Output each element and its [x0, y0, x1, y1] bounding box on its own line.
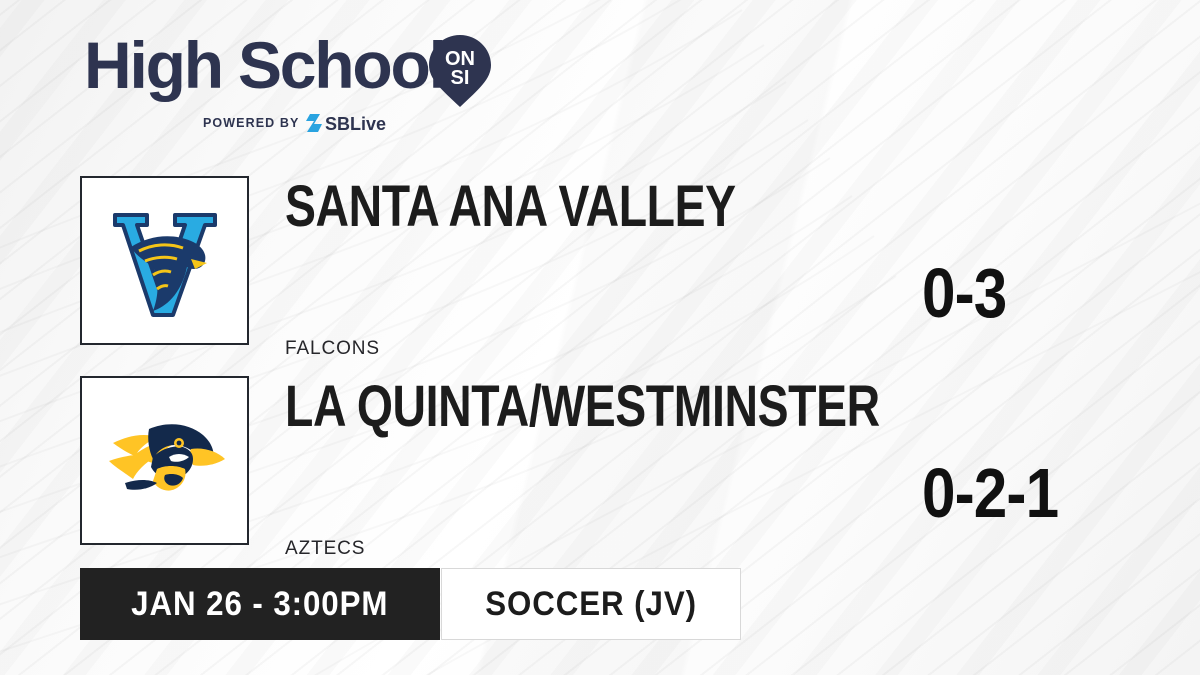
game-sport-label: SOCCER (JV): [485, 585, 697, 624]
aztec-eagle-logo-icon: [95, 391, 235, 531]
onsi-pin-icon: ON SI: [427, 34, 493, 108]
away-team-record: 0-2-1: [922, 458, 1058, 528]
falcon-v-logo-icon: [95, 191, 235, 331]
home-team-name: SANTA ANA VALLEY: [285, 178, 736, 236]
sblive-wordmark: SBLive: [325, 114, 386, 134]
home-team-record: 0-3: [922, 258, 1006, 328]
home-team-logo-box[interactable]: [80, 176, 249, 345]
game-datetime-banner: JAN 26 - 3:00PM: [80, 568, 440, 640]
brand-wordmark: High School: [84, 32, 445, 98]
away-team-logo-box[interactable]: [80, 376, 249, 545]
matchup-graphic: High School ON SI POWERED BY SBLive: [0, 0, 1200, 675]
pin-label-bottom: SI: [451, 67, 470, 89]
home-team-mascot: FALCONS: [285, 338, 380, 360]
sblive-bolt-icon: [306, 114, 322, 132]
powered-by-row: POWERED BY SBLive: [203, 112, 414, 134]
brand-header: High School ON SI POWERED BY SBLive: [84, 32, 514, 137]
away-team-name: LA QUINTA/WESTMINSTER: [285, 378, 880, 436]
game-datetime-label: JAN 26 - 3:00PM: [131, 585, 388, 624]
powered-by-label: POWERED BY: [203, 116, 299, 130]
away-team-mascot: AZTECS: [285, 538, 365, 560]
sblive-logo: SBLive: [306, 112, 414, 134]
game-sport-banner: SOCCER (JV): [441, 568, 741, 640]
